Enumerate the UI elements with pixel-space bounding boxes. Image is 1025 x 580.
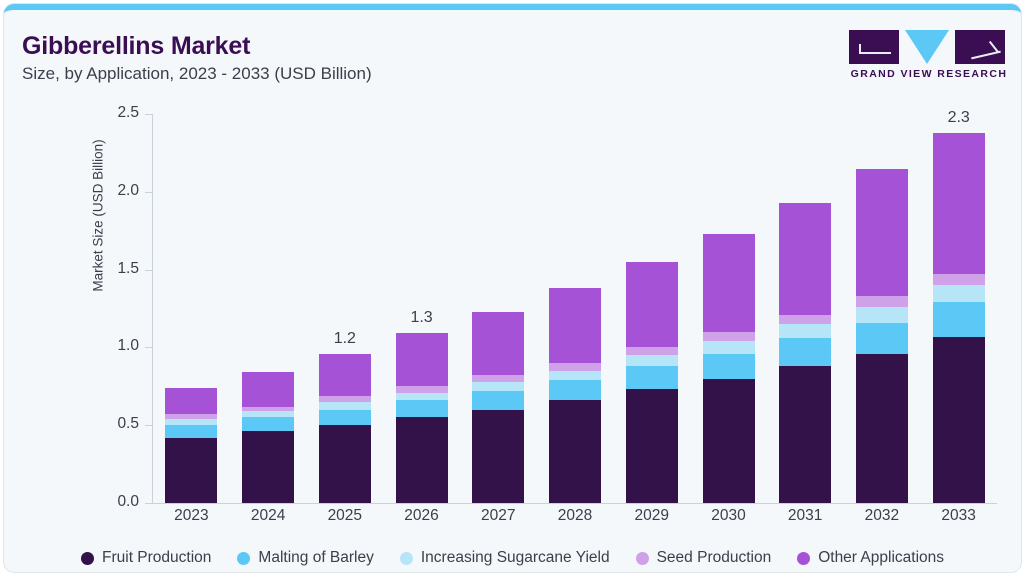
stacked-bar[interactable] [319, 354, 371, 503]
x-axis-tick-label: 2023 [153, 507, 229, 525]
bar-segment[interactable] [396, 417, 448, 503]
legend-item[interactable]: Increasing Sugarcane Yield [400, 549, 610, 567]
stacked-bar[interactable] [472, 312, 524, 503]
bar-group[interactable] [153, 114, 230, 503]
stacked-bar[interactable] [165, 388, 217, 503]
bar-series-container: 1.21.32.3 [153, 114, 997, 503]
bar-segment[interactable] [933, 133, 985, 275]
bar-segment[interactable] [856, 296, 908, 307]
bar-group[interactable]: 1.2 [306, 114, 383, 503]
bar-group[interactable] [613, 114, 690, 503]
bar-segment[interactable] [165, 425, 217, 437]
legend-label: Increasing Sugarcane Yield [421, 549, 610, 567]
legend-swatch-icon [237, 552, 250, 565]
legend-swatch-icon [400, 552, 413, 565]
bar-segment[interactable] [472, 391, 524, 410]
x-axis-tick-label: 2028 [537, 507, 613, 525]
bar-group[interactable] [460, 114, 537, 503]
legend-item[interactable]: Other Applications [797, 549, 944, 567]
y-axis-tick-label: 0.0 [97, 493, 139, 511]
y-axis-tick-label: 1.0 [97, 337, 139, 355]
bar-group[interactable]: 2.3 [920, 114, 997, 503]
stacked-bar[interactable] [856, 169, 908, 504]
y-axis-tick [145, 347, 153, 348]
bar-segment[interactable] [549, 288, 601, 363]
y-axis-tick [145, 114, 153, 115]
y-axis-tick [145, 503, 153, 504]
x-axis-tick-label: 2024 [230, 507, 306, 525]
bar-segment[interactable] [396, 393, 448, 401]
bar-segment[interactable] [549, 363, 601, 371]
bar-segment[interactable] [703, 379, 755, 503]
bar-segment[interactable] [319, 402, 371, 410]
bar-segment[interactable] [856, 354, 908, 503]
legend-item[interactable]: Fruit Production [81, 549, 211, 567]
bar-segment[interactable] [779, 203, 831, 315]
bar-segment[interactable] [703, 354, 755, 379]
bar-segment[interactable] [703, 234, 755, 332]
bar-segment[interactable] [856, 323, 908, 354]
x-axis-tick-label: 2027 [460, 507, 536, 525]
y-axis-tick-label: 0.5 [97, 415, 139, 433]
bar-segment[interactable] [626, 366, 678, 389]
bar-segment[interactable] [933, 302, 985, 336]
bar-group[interactable] [767, 114, 844, 503]
bar-group[interactable] [537, 114, 614, 503]
stacked-bar[interactable] [626, 262, 678, 503]
bar-segment[interactable] [779, 366, 831, 503]
stacked-bar[interactable] [779, 203, 831, 503]
bar-segment[interactable] [319, 354, 371, 396]
y-axis-tick-label: 2.0 [97, 182, 139, 200]
stacked-bar[interactable] [703, 234, 755, 503]
chart-card: Gibberellins Market Size, by Application… [4, 4, 1021, 572]
x-axis-tick-label: 2030 [690, 507, 766, 525]
bar-segment[interactable] [856, 169, 908, 297]
bar-segment[interactable] [779, 324, 831, 338]
bar-segment[interactable] [933, 285, 985, 302]
bar-segment[interactable] [242, 431, 294, 503]
bar-segment[interactable] [703, 341, 755, 353]
stacked-bar[interactable] [242, 372, 294, 503]
stacked-bar[interactable] [933, 133, 985, 503]
chart-legend: Fruit ProductionMalting of BarleyIncreas… [4, 542, 1021, 572]
bar-segment[interactable] [549, 380, 601, 400]
stacked-bar[interactable] [549, 288, 601, 503]
chart-plot-area: Market Size (USD Billion) 0.00.51.01.52.… [4, 10, 1021, 572]
x-axis-tick-label: 2025 [307, 507, 383, 525]
bar-segment[interactable] [242, 417, 294, 431]
y-axis-tick [145, 270, 153, 271]
bar-segment[interactable] [933, 274, 985, 285]
bar-segment[interactable] [472, 410, 524, 503]
bar-segment[interactable] [549, 371, 601, 380]
bar-segment[interactable] [626, 262, 678, 348]
bar-segment[interactable] [396, 333, 448, 386]
bar-segment[interactable] [549, 400, 601, 503]
bar-segment[interactable] [242, 372, 294, 406]
y-axis-tick-label: 1.5 [97, 260, 139, 278]
y-axis-tick-label: 2.5 [97, 104, 139, 122]
legend-swatch-icon [797, 552, 810, 565]
bar-segment[interactable] [856, 307, 908, 323]
bar-segment[interactable] [626, 347, 678, 355]
legend-item[interactable]: Malting of Barley [237, 549, 373, 567]
x-axis-tick-label: 2031 [767, 507, 843, 525]
x-axis-tick-label: 2029 [614, 507, 690, 525]
bar-group[interactable]: 1.3 [383, 114, 460, 503]
stacked-bar[interactable] [396, 333, 448, 503]
bar-segment[interactable] [703, 332, 755, 341]
bar-segment[interactable] [396, 400, 448, 417]
bar-segment[interactable] [779, 315, 831, 324]
bar-value-label: 2.3 [920, 109, 997, 127]
bar-segment[interactable] [626, 355, 678, 366]
bar-segment[interactable] [319, 425, 371, 503]
legend-swatch-icon [81, 552, 94, 565]
bar-segment[interactable] [319, 410, 371, 426]
bar-group[interactable] [230, 114, 307, 503]
legend-swatch-icon [636, 552, 649, 565]
bar-segment[interactable] [165, 388, 217, 414]
x-axis-tick-label: 2032 [844, 507, 920, 525]
y-axis-title: Market Size (USD Billion) [91, 86, 106, 346]
bar-value-label: 1.3 [383, 309, 460, 327]
bar-segment[interactable] [933, 337, 985, 503]
legend-label: Fruit Production [102, 549, 211, 567]
x-axis-tick-label: 2026 [384, 507, 460, 525]
bar-group[interactable] [690, 114, 767, 503]
bar-segment[interactable] [779, 338, 831, 366]
legend-label: Other Applications [818, 549, 944, 567]
bar-segment[interactable] [472, 382, 524, 391]
bar-segment[interactable] [472, 312, 524, 376]
bar-group[interactable] [844, 114, 921, 503]
bar-segment[interactable] [165, 438, 217, 503]
legend-item[interactable]: Seed Production [636, 549, 772, 567]
y-axis-tick [145, 192, 153, 193]
legend-label: Malting of Barley [258, 549, 373, 567]
y-axis-tick [145, 425, 153, 426]
x-axis-line [152, 503, 997, 504]
x-axis-tick-label: 2033 [921, 507, 997, 525]
bar-value-label: 1.2 [306, 330, 383, 348]
legend-label: Seed Production [657, 549, 772, 567]
bar-segment[interactable] [626, 389, 678, 503]
